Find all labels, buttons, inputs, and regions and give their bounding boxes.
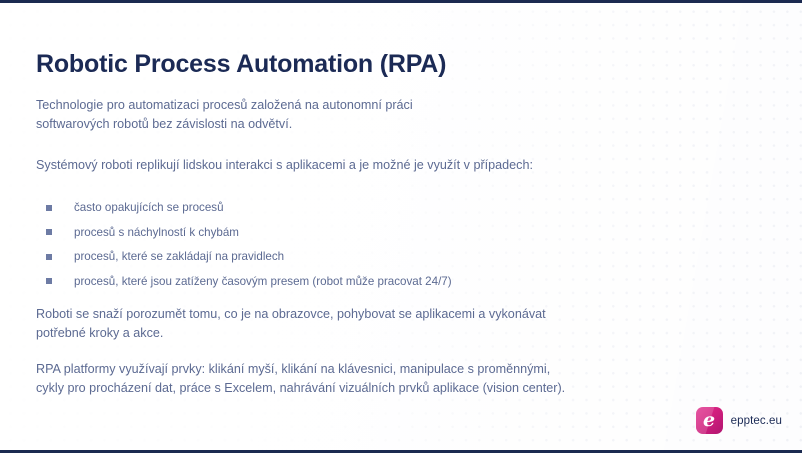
intro-paragraph: Technologie pro automatizaci procesů zal…	[36, 96, 413, 134]
lead-in-paragraph: Systémový roboti replikují lidskou inter…	[36, 156, 533, 175]
logo-letter: e	[703, 411, 715, 430]
logo-wordmark: epptec.eu	[731, 415, 782, 427]
presentation-slide: Robotic Process Automation (RPA) Technol…	[0, 0, 802, 453]
middle-paragraph: Roboti se snaží porozumět tomu, co je na…	[36, 305, 546, 343]
square-bullet-icon	[46, 254, 52, 260]
page-title: Robotic Process Automation (RPA)	[36, 50, 446, 79]
slide-content: Robotic Process Automation (RPA) Technol…	[0, 3, 802, 450]
use-case-bullet-list: často opakujících se procesů procesů s n…	[46, 197, 452, 295]
square-bullet-icon	[46, 278, 52, 284]
square-bullet-icon	[46, 229, 52, 235]
epptec-logo-icon: e	[696, 407, 723, 434]
list-item-label: procesů, které jsou zatíženy časovým pre…	[74, 275, 452, 288]
list-item: procesů, které jsou zatíženy časovým pre…	[46, 271, 452, 292]
list-item-label: procesů s náchylností k chybám	[74, 226, 239, 239]
lead-in-paragraph-line-1: Systémový roboti replikují lidskou inter…	[36, 156, 533, 175]
closing-paragraph: RPA platformy využívají prvky: klikání m…	[36, 360, 565, 398]
square-bullet-icon	[46, 205, 52, 211]
list-item: často opakujících se procesů	[46, 197, 452, 218]
middle-paragraph-line-2: potřebné kroky a akce.	[36, 324, 546, 343]
closing-paragraph-line-2: cykly pro procházení dat, práce s Excele…	[36, 379, 565, 398]
intro-paragraph-line-1: Technologie pro automatizaci procesů zal…	[36, 96, 413, 115]
middle-paragraph-line-1: Roboti se snaží porozumět tomu, co je na…	[36, 305, 546, 324]
closing-paragraph-line-1: RPA platformy využívají prvky: klikání m…	[36, 360, 565, 379]
list-item: procesů s náchylností k chybám	[46, 222, 452, 243]
epptec-logo: e epptec.eu	[696, 407, 782, 434]
list-item-label: procesů, které se zakládají na pravidlec…	[74, 250, 284, 263]
intro-paragraph-line-2: softwarových robotů bez závislosti na od…	[36, 115, 413, 134]
list-item-label: často opakujících se procesů	[74, 201, 224, 214]
list-item: procesů, které se zakládají na pravidlec…	[46, 246, 452, 267]
